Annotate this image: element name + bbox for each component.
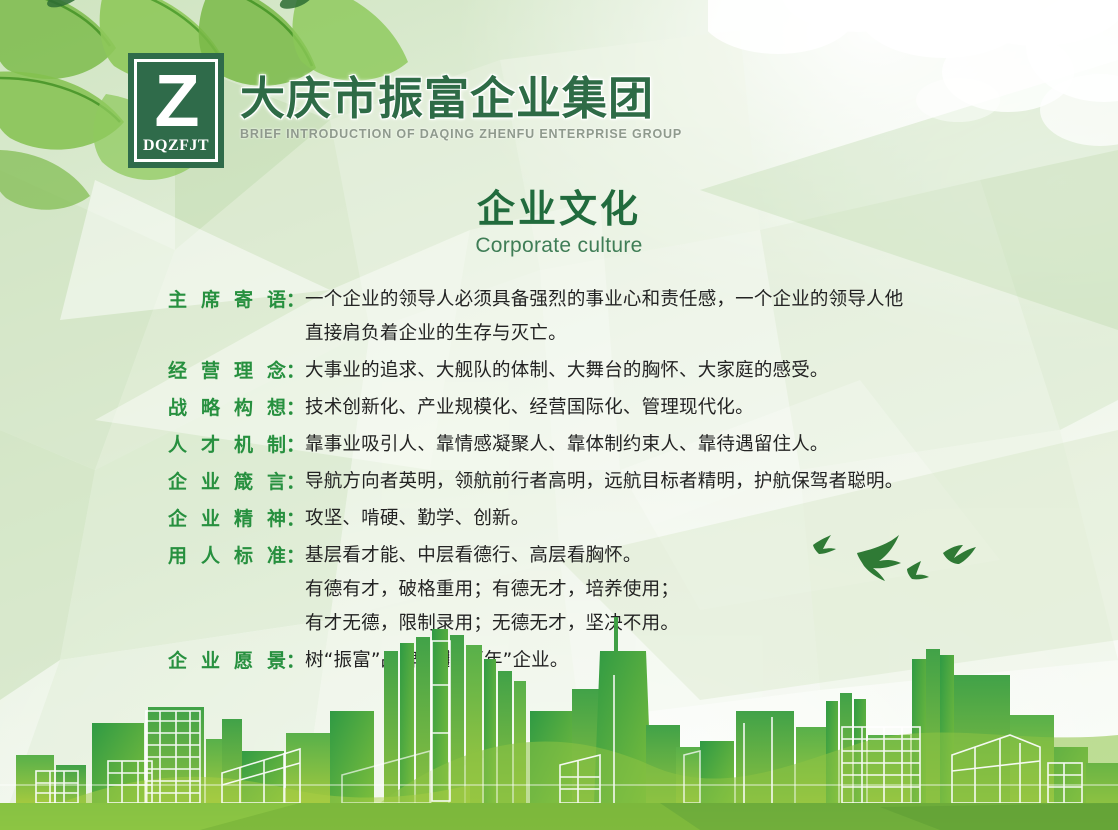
culture-row-line: 导航方向者英明，领航前行者高明，远航目标者精明，护航保驾者聪明。 <box>305 465 1038 499</box>
culture-row-line: 靠事业吸引人、靠情感凝聚人、靠体制约束人、靠待遇留住人。 <box>305 428 1038 462</box>
culture-row-colon: ： <box>286 354 305 388</box>
culture-row-colon: ： <box>286 391 305 425</box>
section-title-en: Corporate culture <box>0 234 1118 258</box>
cloud-decoration-icon <box>708 0 1118 190</box>
culture-row-line: 大事业的追求、大舰队的体制、大舞台的胸怀、大家庭的感受。 <box>305 354 1038 388</box>
culture-row: 经营理念：大事业的追求、大舰队的体制、大舞台的胸怀、大家庭的感受。 <box>168 354 1038 388</box>
culture-row-label: 人才机制 <box>168 428 286 462</box>
logo-abbreviation: DQZFJT <box>143 137 209 155</box>
culture-row-colon: ： <box>286 465 305 499</box>
company-logo: Z DQZFJT <box>128 53 224 168</box>
culture-row-label: 企业精神 <box>168 502 286 536</box>
culture-row-label: 用人标准 <box>168 539 286 573</box>
culture-row-colon: ： <box>286 539 305 573</box>
section-title: 企业文化 Corporate culture <box>0 188 1118 258</box>
culture-row-label: 经营理念 <box>168 354 286 388</box>
culture-row-text: 一个企业的领导人必须具备强烈的事业心和责任感，一个企业的领导人他直接肩负着企业的… <box>305 283 1038 351</box>
culture-row-text: 大事业的追求、大舰队的体制、大舞台的胸怀、大家庭的感受。 <box>305 354 1038 388</box>
section-title-cn: 企业文化 <box>0 188 1118 232</box>
poster-canvas: Z DQZFJT 大庆市振富企业集团 BRIEF INTRODUCTION OF… <box>0 0 1118 830</box>
brand-header: Z DQZFJT 大庆市振富企业集团 BRIEF INTRODUCTION OF… <box>128 53 682 168</box>
culture-row-line: 直接肩负着企业的生存与灭亡。 <box>305 317 1038 351</box>
culture-row-label: 企业箴言 <box>168 465 286 499</box>
culture-row-text: 技术创新化、产业规模化、经营国际化、管理现代化。 <box>305 391 1038 425</box>
company-name: 大庆市振富企业集团 <box>240 75 682 124</box>
culture-row: 人才机制：靠事业吸引人、靠情感凝聚人、靠体制约束人、靠待遇留住人。 <box>168 428 1038 462</box>
culture-row-line: 技术创新化、产业规模化、经营国际化、管理现代化。 <box>305 391 1038 425</box>
culture-row: 主席寄语：一个企业的领导人必须具备强烈的事业心和责任感，一个企业的领导人他直接肩… <box>168 283 1038 351</box>
logo-letter-z: Z <box>137 65 215 136</box>
company-name-english: BRIEF INTRODUCTION OF DAQING ZHENFU ENTE… <box>240 127 682 141</box>
city-skyline-illustration <box>0 615 1118 830</box>
logo-inner-frame: Z DQZFJT <box>134 59 218 162</box>
culture-row: 战略构想：技术创新化、产业规模化、经营国际化、管理现代化。 <box>168 391 1038 425</box>
culture-row-colon: ： <box>286 502 305 536</box>
brand-titles: 大庆市振富企业集团 BRIEF INTRODUCTION OF DAQING Z… <box>240 53 682 141</box>
culture-row-label: 主席寄语 <box>168 283 286 317</box>
flying-birds-icon <box>795 523 995 593</box>
culture-row-text: 靠事业吸引人、靠情感凝聚人、靠体制约束人、靠待遇留住人。 <box>305 428 1038 462</box>
culture-row-colon: ： <box>286 428 305 462</box>
culture-row-label: 战略构想 <box>168 391 286 425</box>
culture-row-line: 一个企业的领导人必须具备强烈的事业心和责任感，一个企业的领导人他 <box>305 283 1038 317</box>
culture-row: 企业箴言：导航方向者英明，领航前行者高明，远航目标者精明，护航保驾者聪明。 <box>168 465 1038 499</box>
culture-row-colon: ： <box>286 283 305 317</box>
culture-row-text: 导航方向者英明，领航前行者高明，远航目标者精明，护航保驾者聪明。 <box>305 465 1038 499</box>
